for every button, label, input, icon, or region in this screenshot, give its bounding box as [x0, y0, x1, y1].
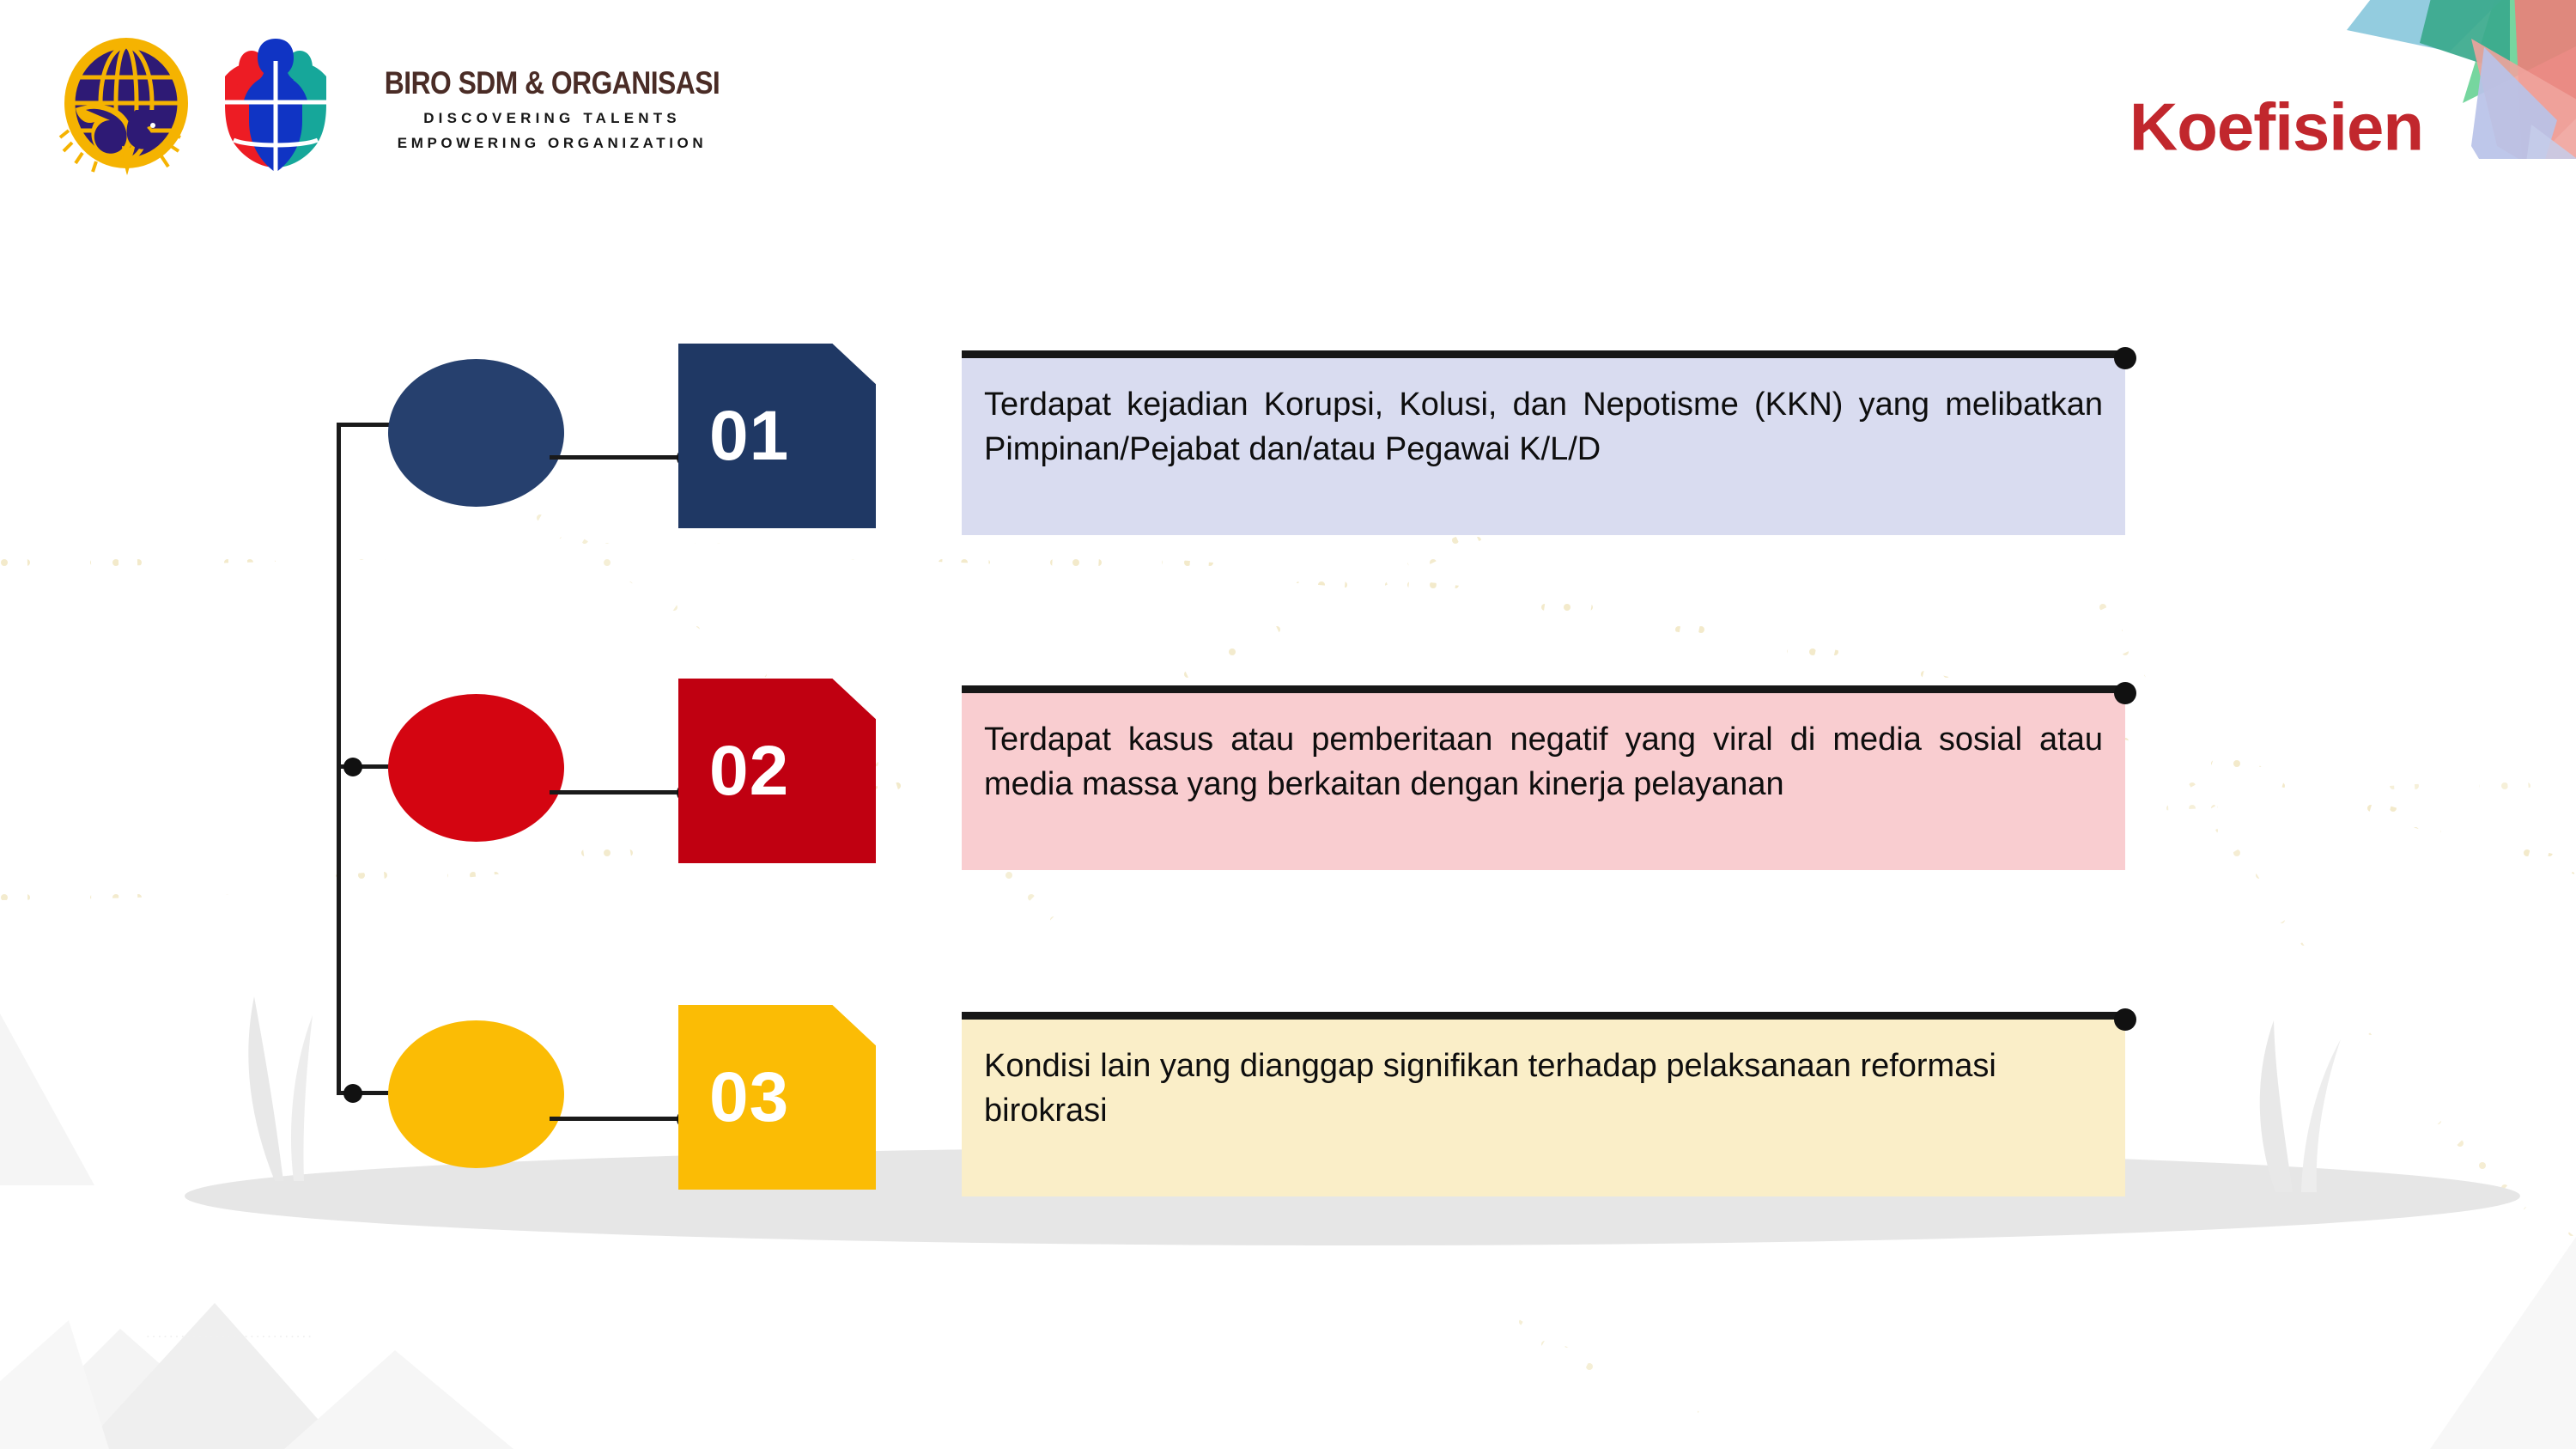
number-label-2: 02 [678, 731, 789, 812]
branch-dot-2 [343, 758, 362, 776]
number-label-1: 01 [678, 396, 789, 477]
number-label-3: 03 [678, 1057, 789, 1138]
bullet-circle-1 [388, 359, 564, 507]
content-panel-1[interactable]: Terdapat kejadian Korupsi, Kolusi, dan N… [962, 350, 2125, 535]
content-text-2: Terdapat kasus atau pemberitaan negatif … [984, 717, 2103, 807]
slide-canvas: ............................. [0, 0, 2576, 1449]
content-panel-2[interactable]: Terdapat kasus atau pemberitaan negatif … [962, 685, 2125, 870]
panel-end-dot-1 [2114, 347, 2136, 369]
panel-end-dot-2 [2114, 682, 2136, 704]
number-tag-2[interactable]: 02 [678, 679, 876, 863]
number-tag-3[interactable]: 03 [678, 1005, 876, 1190]
content-text-3: Kondisi lain yang dianggap signifikan te… [984, 1044, 2103, 1134]
number-tag-1[interactable]: 01 [678, 344, 876, 528]
panel-top-rule-1 [962, 350, 2129, 358]
panel-top-rule-2 [962, 685, 2129, 693]
bracket-vertical-line [337, 423, 341, 1094]
branch-dot-3 [343, 1084, 362, 1103]
content-panel-3[interactable]: Kondisi lain yang dianggap signifikan te… [962, 1012, 2125, 1196]
panel-end-dot-3 [2114, 1008, 2136, 1031]
numbered-infographic: 01 Terdapat kejadian Korupsi, Kolusi, da… [0, 0, 2576, 1449]
bullet-circle-2 [388, 694, 564, 842]
panel-top-rule-3 [962, 1012, 2129, 1020]
content-text-1: Terdapat kejadian Korupsi, Kolusi, dan N… [984, 382, 2103, 472]
bullet-circle-3 [388, 1020, 564, 1168]
